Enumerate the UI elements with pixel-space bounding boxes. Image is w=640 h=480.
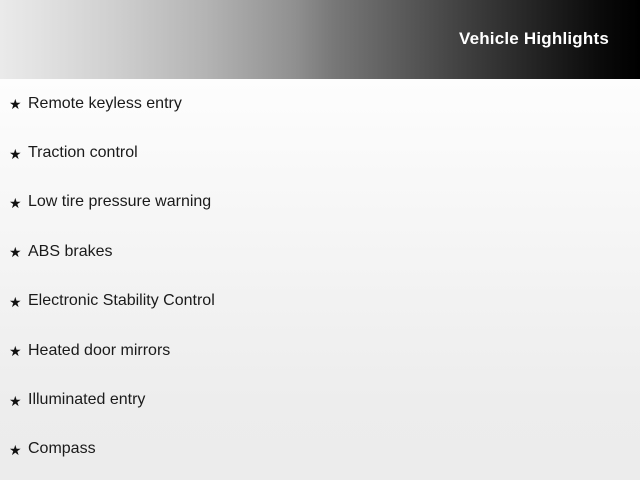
vehicle-highlights-slide: Vehicle Highlights ★ Remote keyless entr… — [0, 0, 640, 480]
star-icon: ★ — [9, 343, 28, 358]
star-icon: ★ — [9, 96, 28, 111]
list-item-label: Remote keyless entry — [28, 96, 182, 112]
list-item-label: ABS brakes — [28, 244, 112, 260]
list-item: ★ Low tire pressure warning — [0, 178, 640, 227]
star-icon: ★ — [9, 442, 28, 457]
slide-header-band: Vehicle Highlights — [0, 0, 640, 79]
list-item: ★ Heated door mirrors — [0, 326, 640, 375]
star-icon: ★ — [9, 195, 28, 210]
list-item: ★ Illuminated entry — [0, 375, 640, 424]
star-icon: ★ — [9, 244, 28, 259]
list-item: ★ Electronic Stability Control — [0, 277, 640, 326]
list-item: ★ Traction control — [0, 128, 640, 177]
list-item: ★ ABS brakes — [0, 227, 640, 276]
star-icon: ★ — [9, 146, 28, 161]
list-item-label: Compass — [28, 441, 96, 457]
list-item-label: Low tire pressure warning — [28, 194, 211, 210]
list-item: ★ Compass — [0, 425, 640, 474]
list-item: ★ Remote keyless entry — [0, 79, 640, 128]
list-item-label: Illuminated entry — [28, 392, 145, 408]
list-item-label: Traction control — [28, 145, 138, 161]
list-item-label: Heated door mirrors — [28, 343, 170, 359]
vehicle-highlights-list: ★ Remote keyless entry ★ Traction contro… — [0, 79, 640, 474]
star-icon: ★ — [9, 294, 28, 309]
list-item-label: Electronic Stability Control — [28, 293, 215, 309]
star-icon: ★ — [9, 393, 28, 408]
page-title: Vehicle Highlights — [459, 30, 640, 49]
